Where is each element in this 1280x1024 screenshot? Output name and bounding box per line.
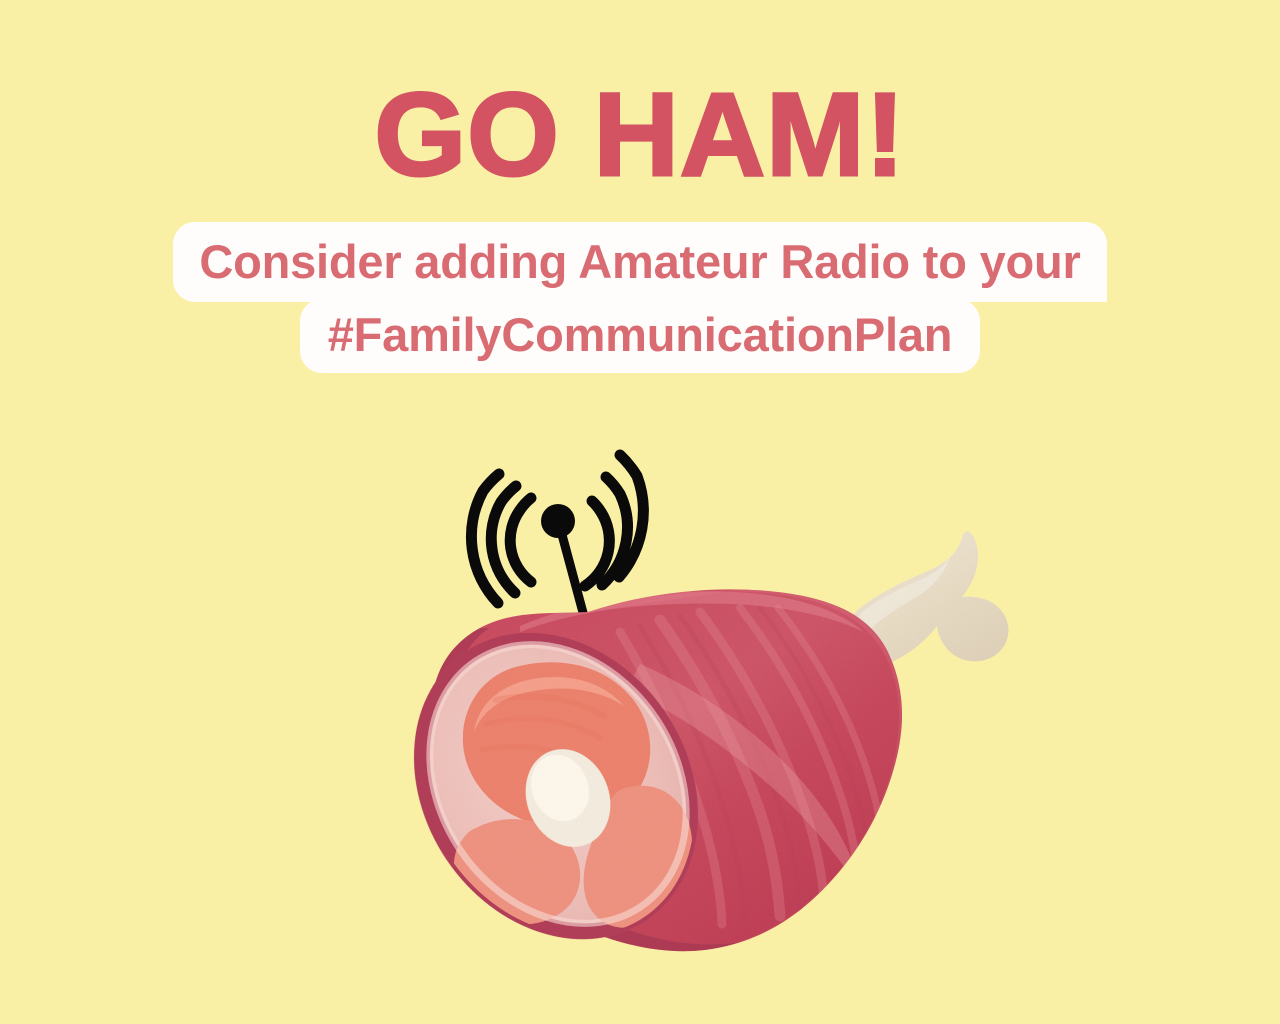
ham-hock-bone	[844, 531, 1009, 667]
radio-wave-arc-left-mid	[491, 486, 516, 593]
banner-row-2: #FamilyCommunicationPlan	[0, 302, 1280, 373]
page-title: GO HAM!	[0, 76, 1280, 194]
radio-wave-arc-right-mid	[602, 477, 627, 585]
banner: Consider adding Amateur Radio to your #F…	[0, 222, 1280, 373]
ham-center-bone	[511, 736, 624, 859]
radio-wave-arc-right-inner	[585, 501, 609, 586]
banner-row-1: Consider adding Amateur Radio to your	[0, 222, 1280, 302]
radio-wave-arc-right-outer	[619, 455, 643, 577]
radio-wave-arc-left-inner	[510, 498, 531, 582]
poster-canvas: GO HAM! Consider adding Amateur Radio to…	[0, 0, 1280, 1024]
radio-waves-antenna-icon	[471, 455, 643, 620]
banner-line-2: #FamilyCommunicationPlan	[300, 299, 981, 373]
ham-body	[420, 560, 980, 1000]
banner-line-1: Consider adding Amateur Radio to your	[173, 222, 1106, 302]
antenna-stem	[561, 531, 585, 620]
radio-wave-arc-left-outer	[471, 474, 499, 603]
ham-cut-face	[356, 578, 756, 994]
antenna-tip-dot	[541, 504, 575, 538]
